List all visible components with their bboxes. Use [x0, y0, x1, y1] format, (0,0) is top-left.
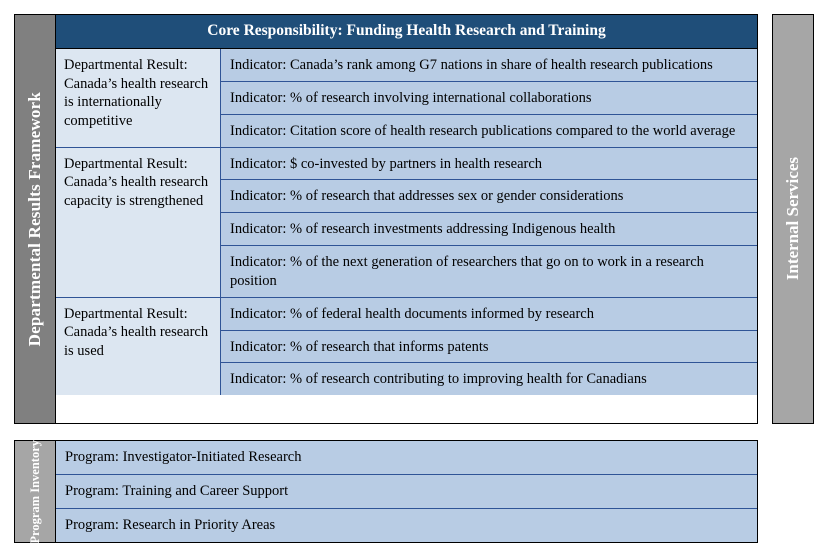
result-group: Departmental Result: Canada’s health res…: [56, 49, 757, 148]
indicator-cell: Indicator: % of research that addresses …: [221, 180, 757, 213]
indicator-cell: Indicator: % of research involving inter…: [221, 82, 757, 115]
program-item: Program: Investigator-Initiated Research: [56, 441, 757, 475]
result-group: Departmental Result: Canada’s health res…: [56, 298, 757, 396]
framework-content: Core Responsibility: Funding Health Rese…: [56, 14, 758, 424]
indicator-cell: Indicator: % of research investments add…: [221, 213, 757, 246]
program-inventory-block: Program Inventory Program: Investigator-…: [14, 440, 758, 543]
program-inventory-side-label: Program Inventory: [14, 440, 56, 543]
indicator-cell: Indicator: % of federal health documents…: [221, 298, 757, 331]
indicator-cell: Indicator: Canada’s rank among G7 nation…: [221, 49, 757, 82]
core-responsibility-header: Core Responsibility: Funding Health Rese…: [56, 15, 757, 49]
framework-side-label-text: Departmental Results Framework: [25, 92, 45, 346]
indicator-cell: Indicator: Citation score of health rese…: [221, 115, 757, 147]
departmental-result-cell: Departmental Result: Canada’s health res…: [56, 49, 221, 147]
departmental-results-framework: Departmental Results Framework Core Resp…: [14, 14, 758, 424]
indicator-cell: Indicator: $ co-invested by partners in …: [221, 148, 757, 181]
indicator-column: Indicator: % of federal health documents…: [221, 298, 757, 396]
indicator-column: Indicator: $ co-invested by partners in …: [221, 148, 757, 297]
internal-services-label: Internal Services: [783, 157, 803, 280]
program-item: Program: Training and Career Support: [56, 475, 757, 509]
departmental-result-cell: Departmental Result: Canada’s health res…: [56, 298, 221, 396]
departmental-result-cell: Departmental Result: Canada’s health res…: [56, 148, 221, 297]
framework-side-label: Departmental Results Framework: [14, 14, 56, 424]
indicator-cell: Indicator: % of the next generation of r…: [221, 246, 757, 297]
result-group: Departmental Result: Canada’s health res…: [56, 148, 757, 298]
indicator-column: Indicator: Canada’s rank among G7 nation…: [221, 49, 757, 147]
indicator-cell: Indicator: % of research that informs pa…: [221, 331, 757, 364]
indicator-cell: Indicator: % of research contributing to…: [221, 363, 757, 395]
program-list: Program: Investigator-Initiated Research…: [56, 440, 758, 543]
program-item: Program: Research in Priority Areas: [56, 509, 757, 542]
program-inventory-side-label-text: Program Inventory: [28, 440, 42, 544]
internal-services-block: Internal Services: [772, 14, 814, 424]
results-body: Departmental Result: Canada’s health res…: [56, 49, 757, 423]
